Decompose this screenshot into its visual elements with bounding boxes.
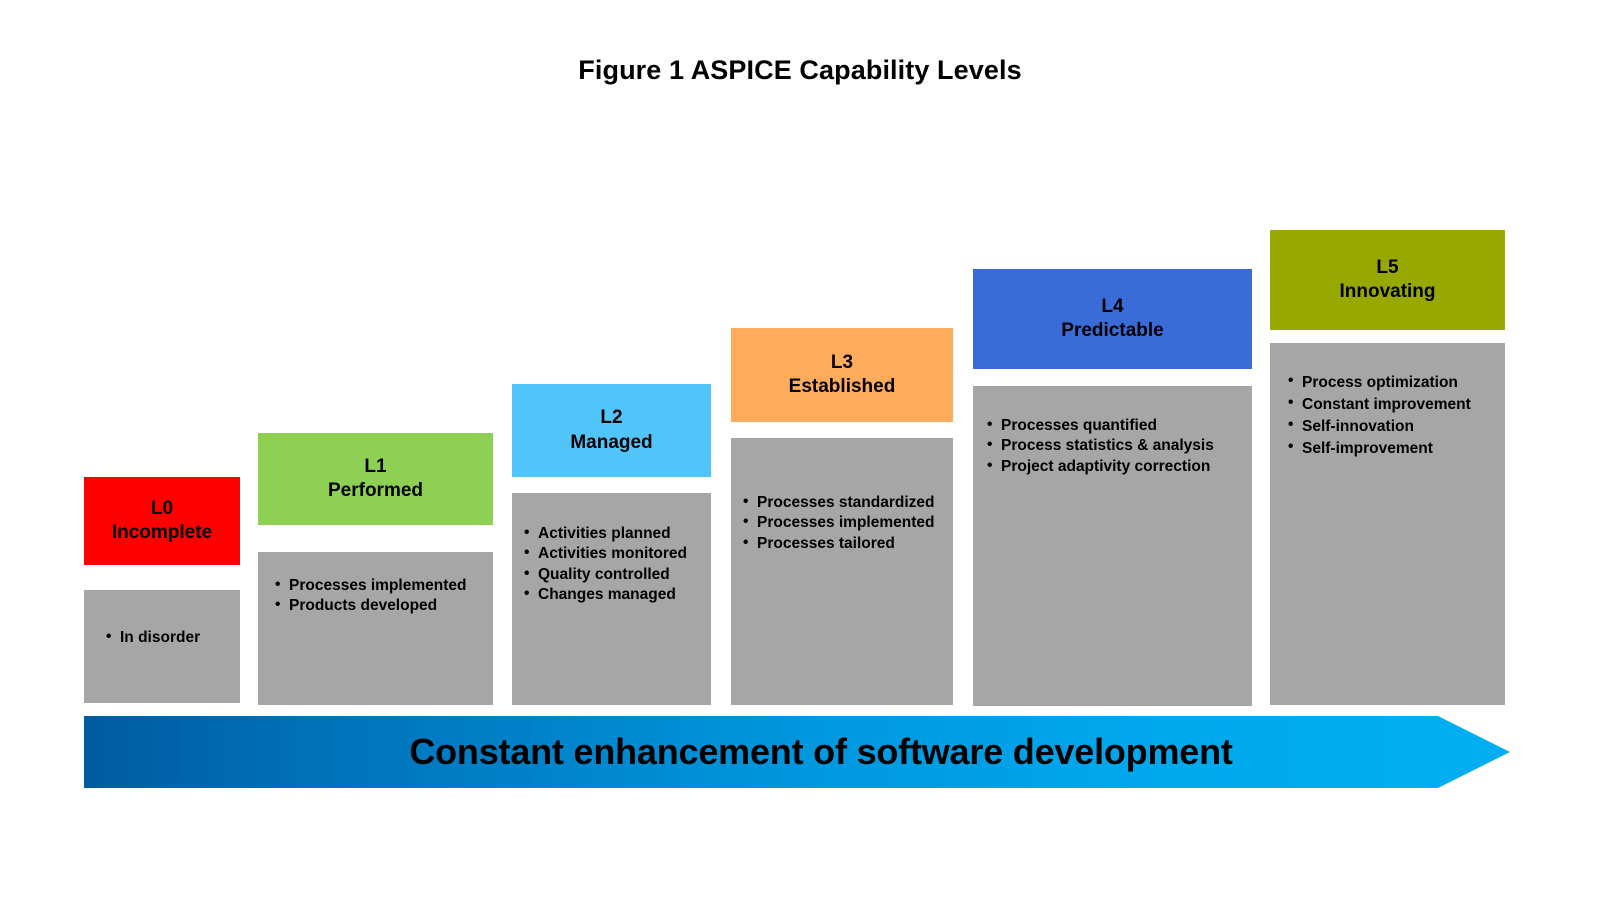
level-bullets-l4: Processes quantified Process statistics … — [987, 416, 1238, 477]
level-bullets-l3: Processes standardized Processes impleme… — [743, 493, 939, 554]
level-name-l5: Innovating — [1339, 280, 1435, 304]
level-code-l2: L2 — [600, 406, 622, 430]
list-item: Processes standardized — [743, 493, 939, 513]
aspice-capability-levels-figure: Figure 1 ASPICE Capability Levels L0 Inc… — [0, 0, 1600, 900]
level-bullets-l0: In disorder — [106, 628, 226, 648]
level-header-l5[interactable]: L5 Innovating — [1270, 230, 1505, 330]
level-name-l1: Performed — [328, 479, 423, 503]
level-code-l5: L5 — [1376, 256, 1398, 280]
level-body-l4: Processes quantified Process statistics … — [973, 386, 1252, 706]
list-item: Processes tailored — [743, 534, 939, 554]
level-bullets-l2: Activities planned Activities monitored … — [524, 524, 697, 605]
list-item: In disorder — [106, 628, 226, 648]
level-code-l4: L4 — [1101, 295, 1123, 319]
level-body-l0: In disorder — [84, 590, 240, 703]
list-item: Constant improvement — [1288, 394, 1491, 416]
list-item: Process optimization — [1288, 372, 1491, 394]
list-item: Self-innovation — [1288, 416, 1491, 438]
level-name-l3: Established — [789, 375, 896, 399]
level-header-l0[interactable]: L0 Incomplete — [84, 477, 240, 565]
list-item: Activities monitored — [524, 544, 697, 564]
list-item: Processes quantified — [987, 416, 1238, 436]
list-item: Products developed — [275, 596, 479, 616]
list-item: Process statistics & analysis — [987, 436, 1238, 456]
progress-arrow-banner: Constant enhancement of software develop… — [84, 716, 1510, 788]
level-bullets-l1: Processes implemented Products developed — [275, 576, 479, 617]
arrow-right-icon — [1438, 716, 1510, 788]
level-code-l0: L0 — [151, 497, 173, 521]
level-bullets-l5: Process optimization Constant improvemen… — [1288, 372, 1491, 460]
level-header-l3[interactable]: L3 Established — [731, 328, 953, 422]
level-body-l5: Process optimization Constant improvemen… — [1270, 343, 1505, 705]
list-item: Changes managed — [524, 585, 697, 605]
level-body-l1: Processes implemented Products developed — [258, 552, 493, 705]
level-code-l3: L3 — [831, 351, 853, 375]
list-item: Processes implemented — [275, 576, 479, 596]
level-header-l2[interactable]: L2 Managed — [512, 384, 711, 477]
level-code-l1: L1 — [364, 455, 386, 479]
list-item: Activities planned — [524, 524, 697, 544]
arrow-label: Constant enhancement of software develop… — [84, 716, 1438, 788]
level-body-l2: Activities planned Activities monitored … — [512, 493, 711, 705]
level-body-l3: Processes standardized Processes impleme… — [731, 438, 953, 705]
level-header-l4[interactable]: L4 Predictable — [973, 269, 1252, 369]
list-item: Processes implemented — [743, 513, 939, 533]
level-name-l0: Incomplete — [112, 521, 212, 545]
level-name-l2: Managed — [570, 431, 652, 455]
list-item: Self-improvement — [1288, 438, 1491, 460]
list-item: Quality controlled — [524, 565, 697, 585]
list-item: Project adaptivity correction — [987, 457, 1238, 477]
level-header-l1[interactable]: L1 Performed — [258, 433, 493, 525]
level-name-l4: Predictable — [1061, 319, 1163, 343]
